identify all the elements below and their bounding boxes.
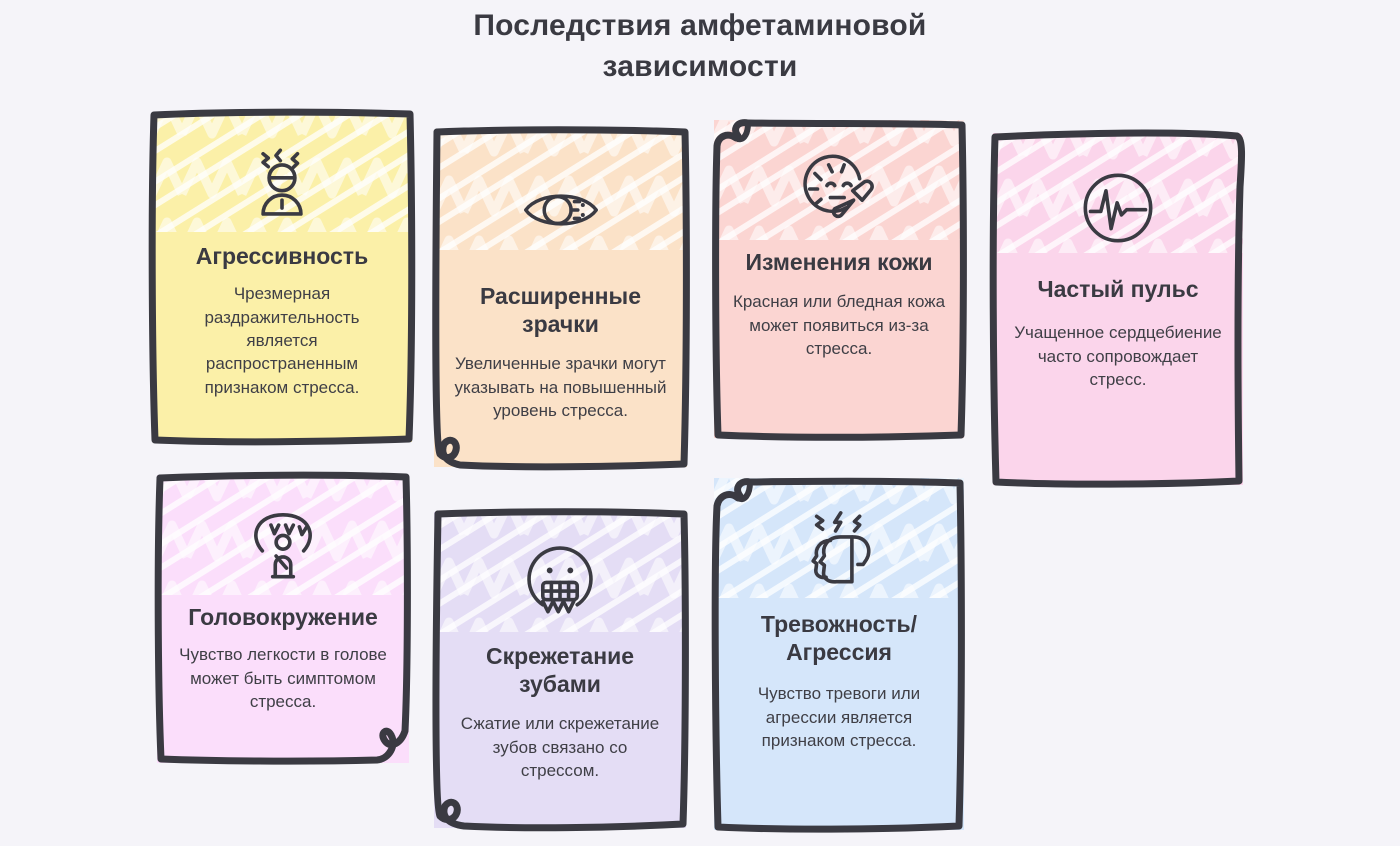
card-content: Изменения кожи Красная или бледная кожа … (714, 120, 964, 438)
card-anxiety-aggression[interactable]: Тревожность/ Агрессия Чувство тревоги ил… (714, 478, 964, 830)
dizzy-person-icon (240, 501, 326, 587)
card-skin-changes[interactable]: Изменения кожи Красная или бледная кожа … (714, 120, 964, 438)
card-title: Скрежетание зубами (452, 642, 668, 698)
card-content: Скрежетание зубами Сжатие или скрежетани… (434, 512, 686, 828)
card-body: Чувство легкости в голове может быть сим… (175, 643, 391, 713)
card-title: Агрессивность (196, 242, 368, 270)
card-dilated-pupils[interactable]: Расширенные зрачки Увеличенные зрачки мо… (434, 130, 687, 467)
card-aggression[interactable]: Агрессивность Чрезмерная раздражительнос… (152, 112, 412, 442)
card-title: Частый пульс (1037, 275, 1198, 303)
card-dizziness[interactable]: Головокружение Чувство легкости в голове… (157, 475, 409, 763)
card-body: Увеличенные зрачки могут указывать на по… (452, 352, 669, 422)
eye-dilated-pupil-icon (519, 168, 603, 252)
card-teeth-grinding[interactable]: Скрежетание зубами Сжатие или скрежетани… (434, 512, 686, 828)
angry-person-icon (239, 140, 325, 226)
card-content: Головокружение Чувство легкости в голове… (157, 475, 409, 763)
card-rapid-pulse[interactable]: Частый пульс Учащенное сердцебиение част… (993, 133, 1243, 485)
card-title: Расширенные зрачки (452, 282, 669, 338)
card-content: Частый пульс Учащенное сердцебиение част… (993, 133, 1243, 485)
card-content: Агрессивность Чрезмерная раздражительнос… (152, 112, 412, 442)
card-content: Тревожность/ Агрессия Чувство тревоги ил… (714, 478, 964, 830)
pulse-heartbeat-icon (1075, 165, 1161, 251)
card-title: Изменения кожи (745, 248, 932, 276)
card-body: Чрезмерная раздражительность является ра… (170, 282, 394, 399)
grinding-teeth-face-icon (517, 536, 603, 622)
card-content: Расширенные зрачки Увеличенные зрачки мо… (434, 130, 687, 467)
face-makeup-brush-icon (796, 146, 882, 232)
card-body: Чувство тревоги или агрессии является пр… (732, 682, 946, 752)
two-heads-lightning-icon (796, 506, 882, 592)
card-body: Учащенное сердцебиение часто сопровождае… (1011, 321, 1225, 391)
card-body: Красная или бледная кожа может появиться… (732, 290, 946, 360)
card-title: Тревожность/ Агрессия (732, 610, 946, 666)
card-body: Сжатие или скрежетание зубов связано со … (452, 712, 668, 782)
card-title: Головокружение (188, 603, 378, 631)
card-board: Агрессивность Чрезмерная раздражительнос… (0, 0, 1400, 846)
